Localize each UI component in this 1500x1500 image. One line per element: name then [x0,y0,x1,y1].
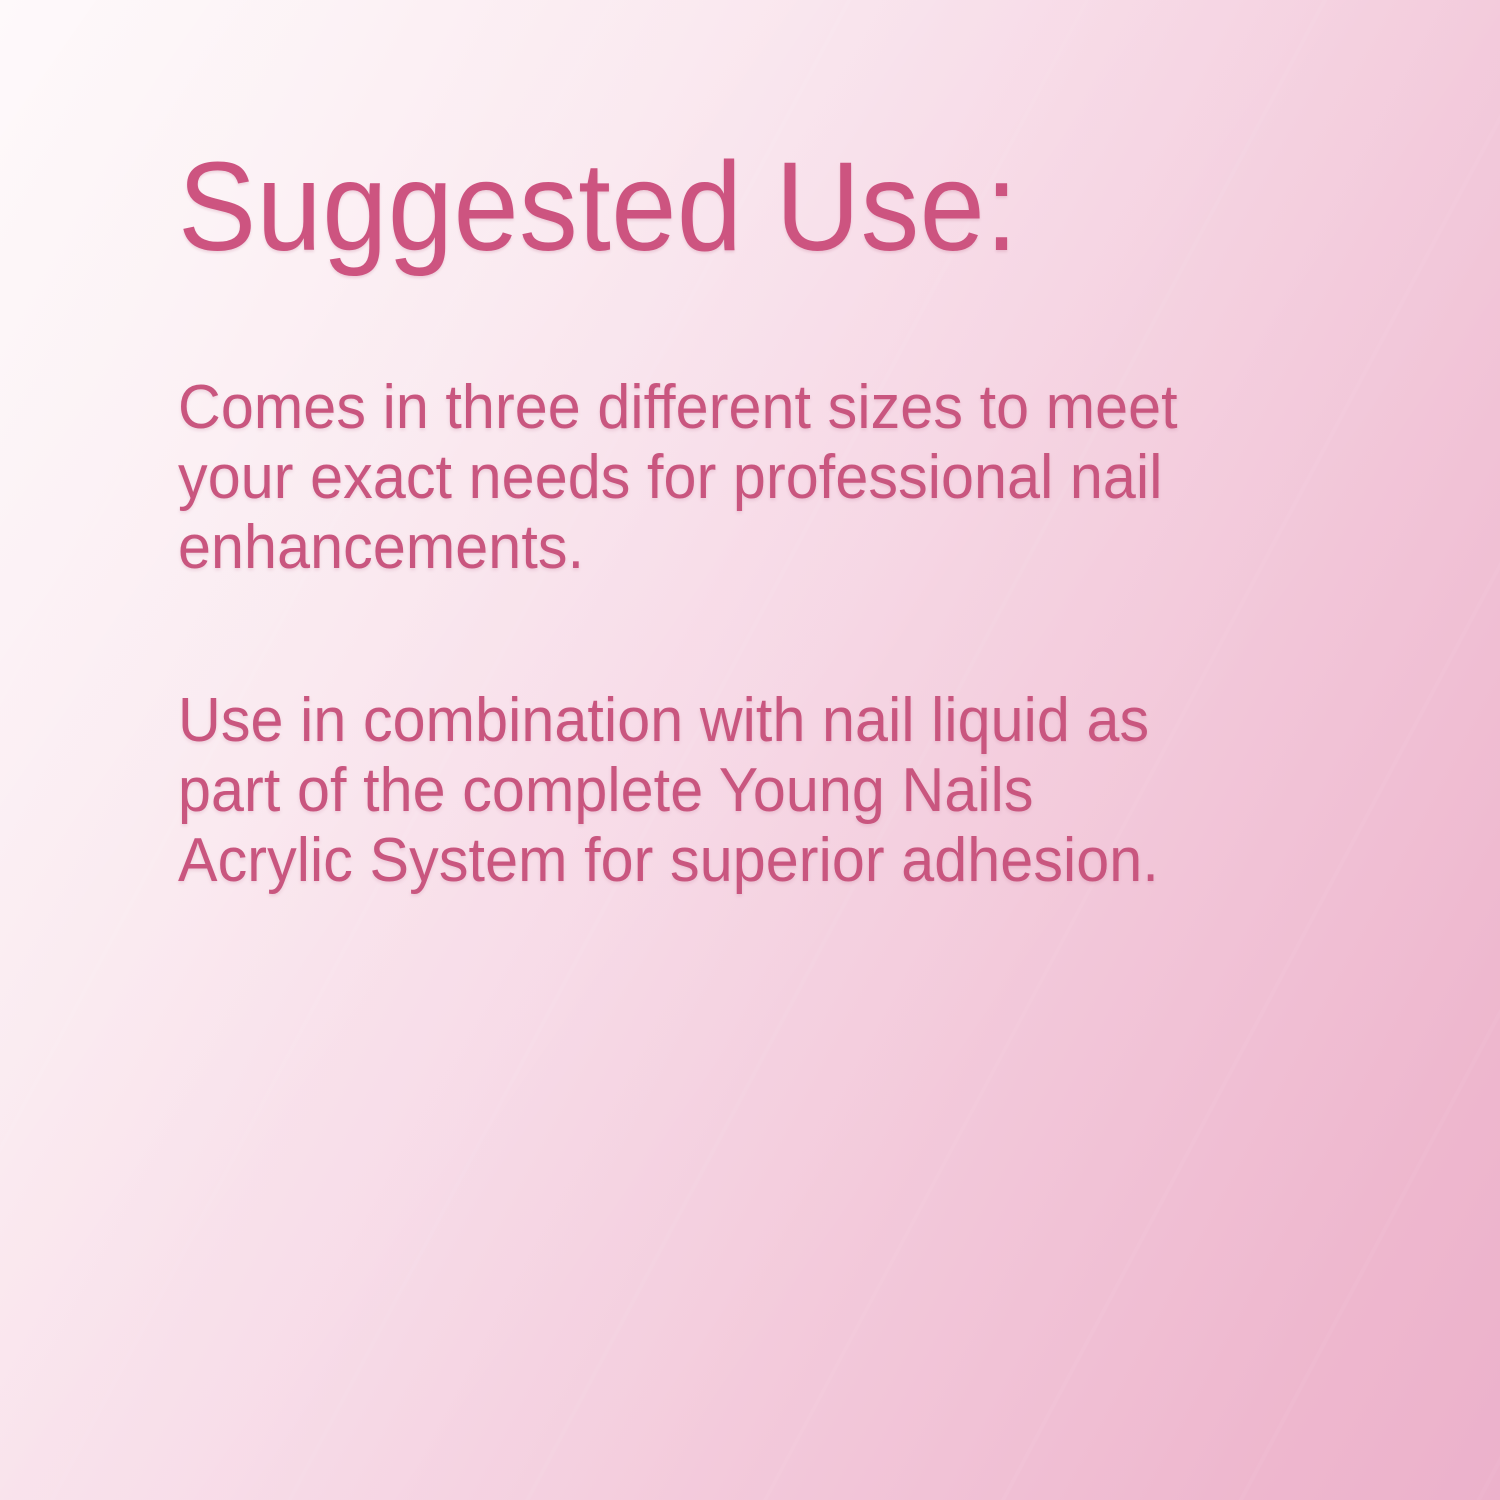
suggested-use-paragraph-2: Use in combination with nail liquid as p… [178,686,1214,896]
suggested-use-paragraph-1: Comes in three different sizes to meet y… [178,373,1214,583]
product-info-card: Suggested Use: Comes in three different … [0,0,1500,1500]
page-title: Suggested Use: [178,140,1187,275]
content-block: Suggested Use: Comes in three different … [178,140,1263,896]
